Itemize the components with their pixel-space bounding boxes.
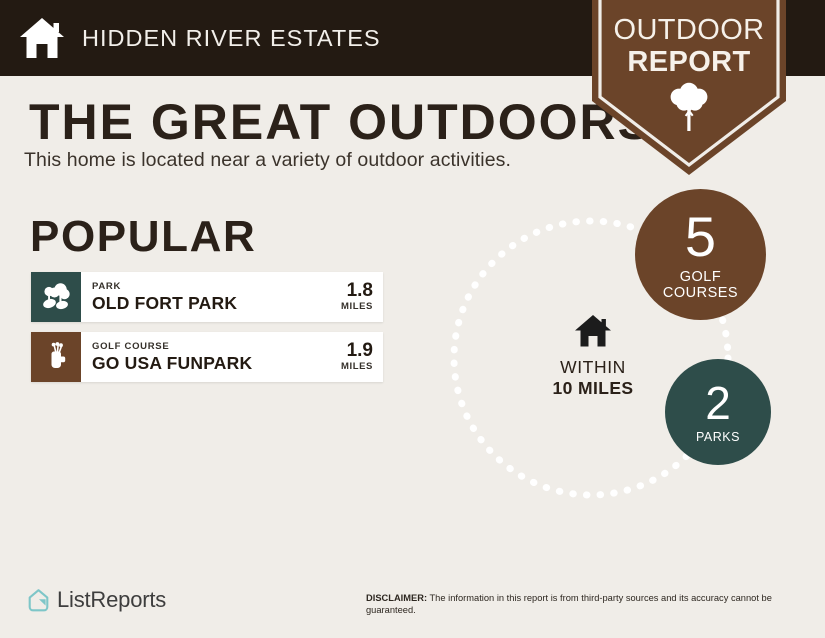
stat-label-line-1: PARKS [696,429,740,445]
disclaimer: DISCLAIMER: The information in this repo… [366,592,786,617]
poi-category: PARK [92,281,237,293]
listreports-house-icon [27,588,50,613]
property-address: HIDDEN RIVER ESTATES [82,25,381,52]
disclaimer-label: DISCLAIMER: [366,593,427,603]
poi-name: OLD FORT PARK [92,293,237,314]
stat-label-line-1: GOLF [680,269,721,285]
list-item-body: GOLF COURSE GO USA FUNPARK 1.9 MILES [81,332,383,382]
listreports-logo[interactable]: ListReports [27,587,166,613]
poi-distance-value: 1.9 [341,341,373,361]
list-item-texts: PARK OLD FORT PARK [92,281,237,314]
tree-icon [668,81,710,133]
stat-label-line-2: COURSES [663,285,738,301]
home-icon [18,16,66,60]
radius-center-line-1: WITHIN [538,357,648,378]
radius-center-line-2: 10 MILES [538,378,648,399]
disclaimer-text: The information in this report is from t… [366,593,772,615]
park-trees-icon [31,272,81,322]
list-item[interactable]: GOLF COURSE GO USA FUNPARK 1.9 MILES [31,332,383,382]
stat-bubble-golf-courses[interactable]: 5 GOLF COURSES [635,189,766,320]
stat-bubble-parks[interactable]: 2 PARKS [665,359,771,465]
radius-infographic: WITHIN 10 MILES 5 GOLF COURSES 2 PARKS [440,185,780,505]
page-subtitle: This home is located near a variety of o… [24,149,511,172]
list-item-texts: GOLF COURSE GO USA FUNPARK [92,341,252,374]
outdoor-report-badge: OUTDOOR REPORT [592,0,786,175]
poi-distance: 1.9 MILES [341,341,373,373]
list-item-body: PARK OLD FORT PARK 1.8 MILES [81,272,383,322]
golf-bag-icon [31,332,81,382]
home-icon [574,314,612,348]
popular-poi-list: PARK OLD FORT PARK 1.8 MILES [31,272,383,392]
poi-distance: 1.8 MILES [341,281,373,313]
poi-distance-unit: MILES [341,361,373,373]
page-title: THE GREAT OUTDOORS [29,94,653,150]
section-heading-popular: POPULAR [30,212,256,262]
poi-name: GO USA FUNPARK [92,353,252,374]
poi-distance-value: 1.8 [341,281,373,301]
poi-distance-unit: MILES [341,301,373,313]
radius-center-marker: WITHIN 10 MILES [538,314,648,399]
stat-count: 5 [685,209,716,265]
list-item[interactable]: PARK OLD FORT PARK 1.8 MILES [31,272,383,322]
poi-category: GOLF COURSE [92,341,252,353]
stat-count: 2 [705,380,731,426]
listreports-wordmark: ListReports [57,587,166,613]
